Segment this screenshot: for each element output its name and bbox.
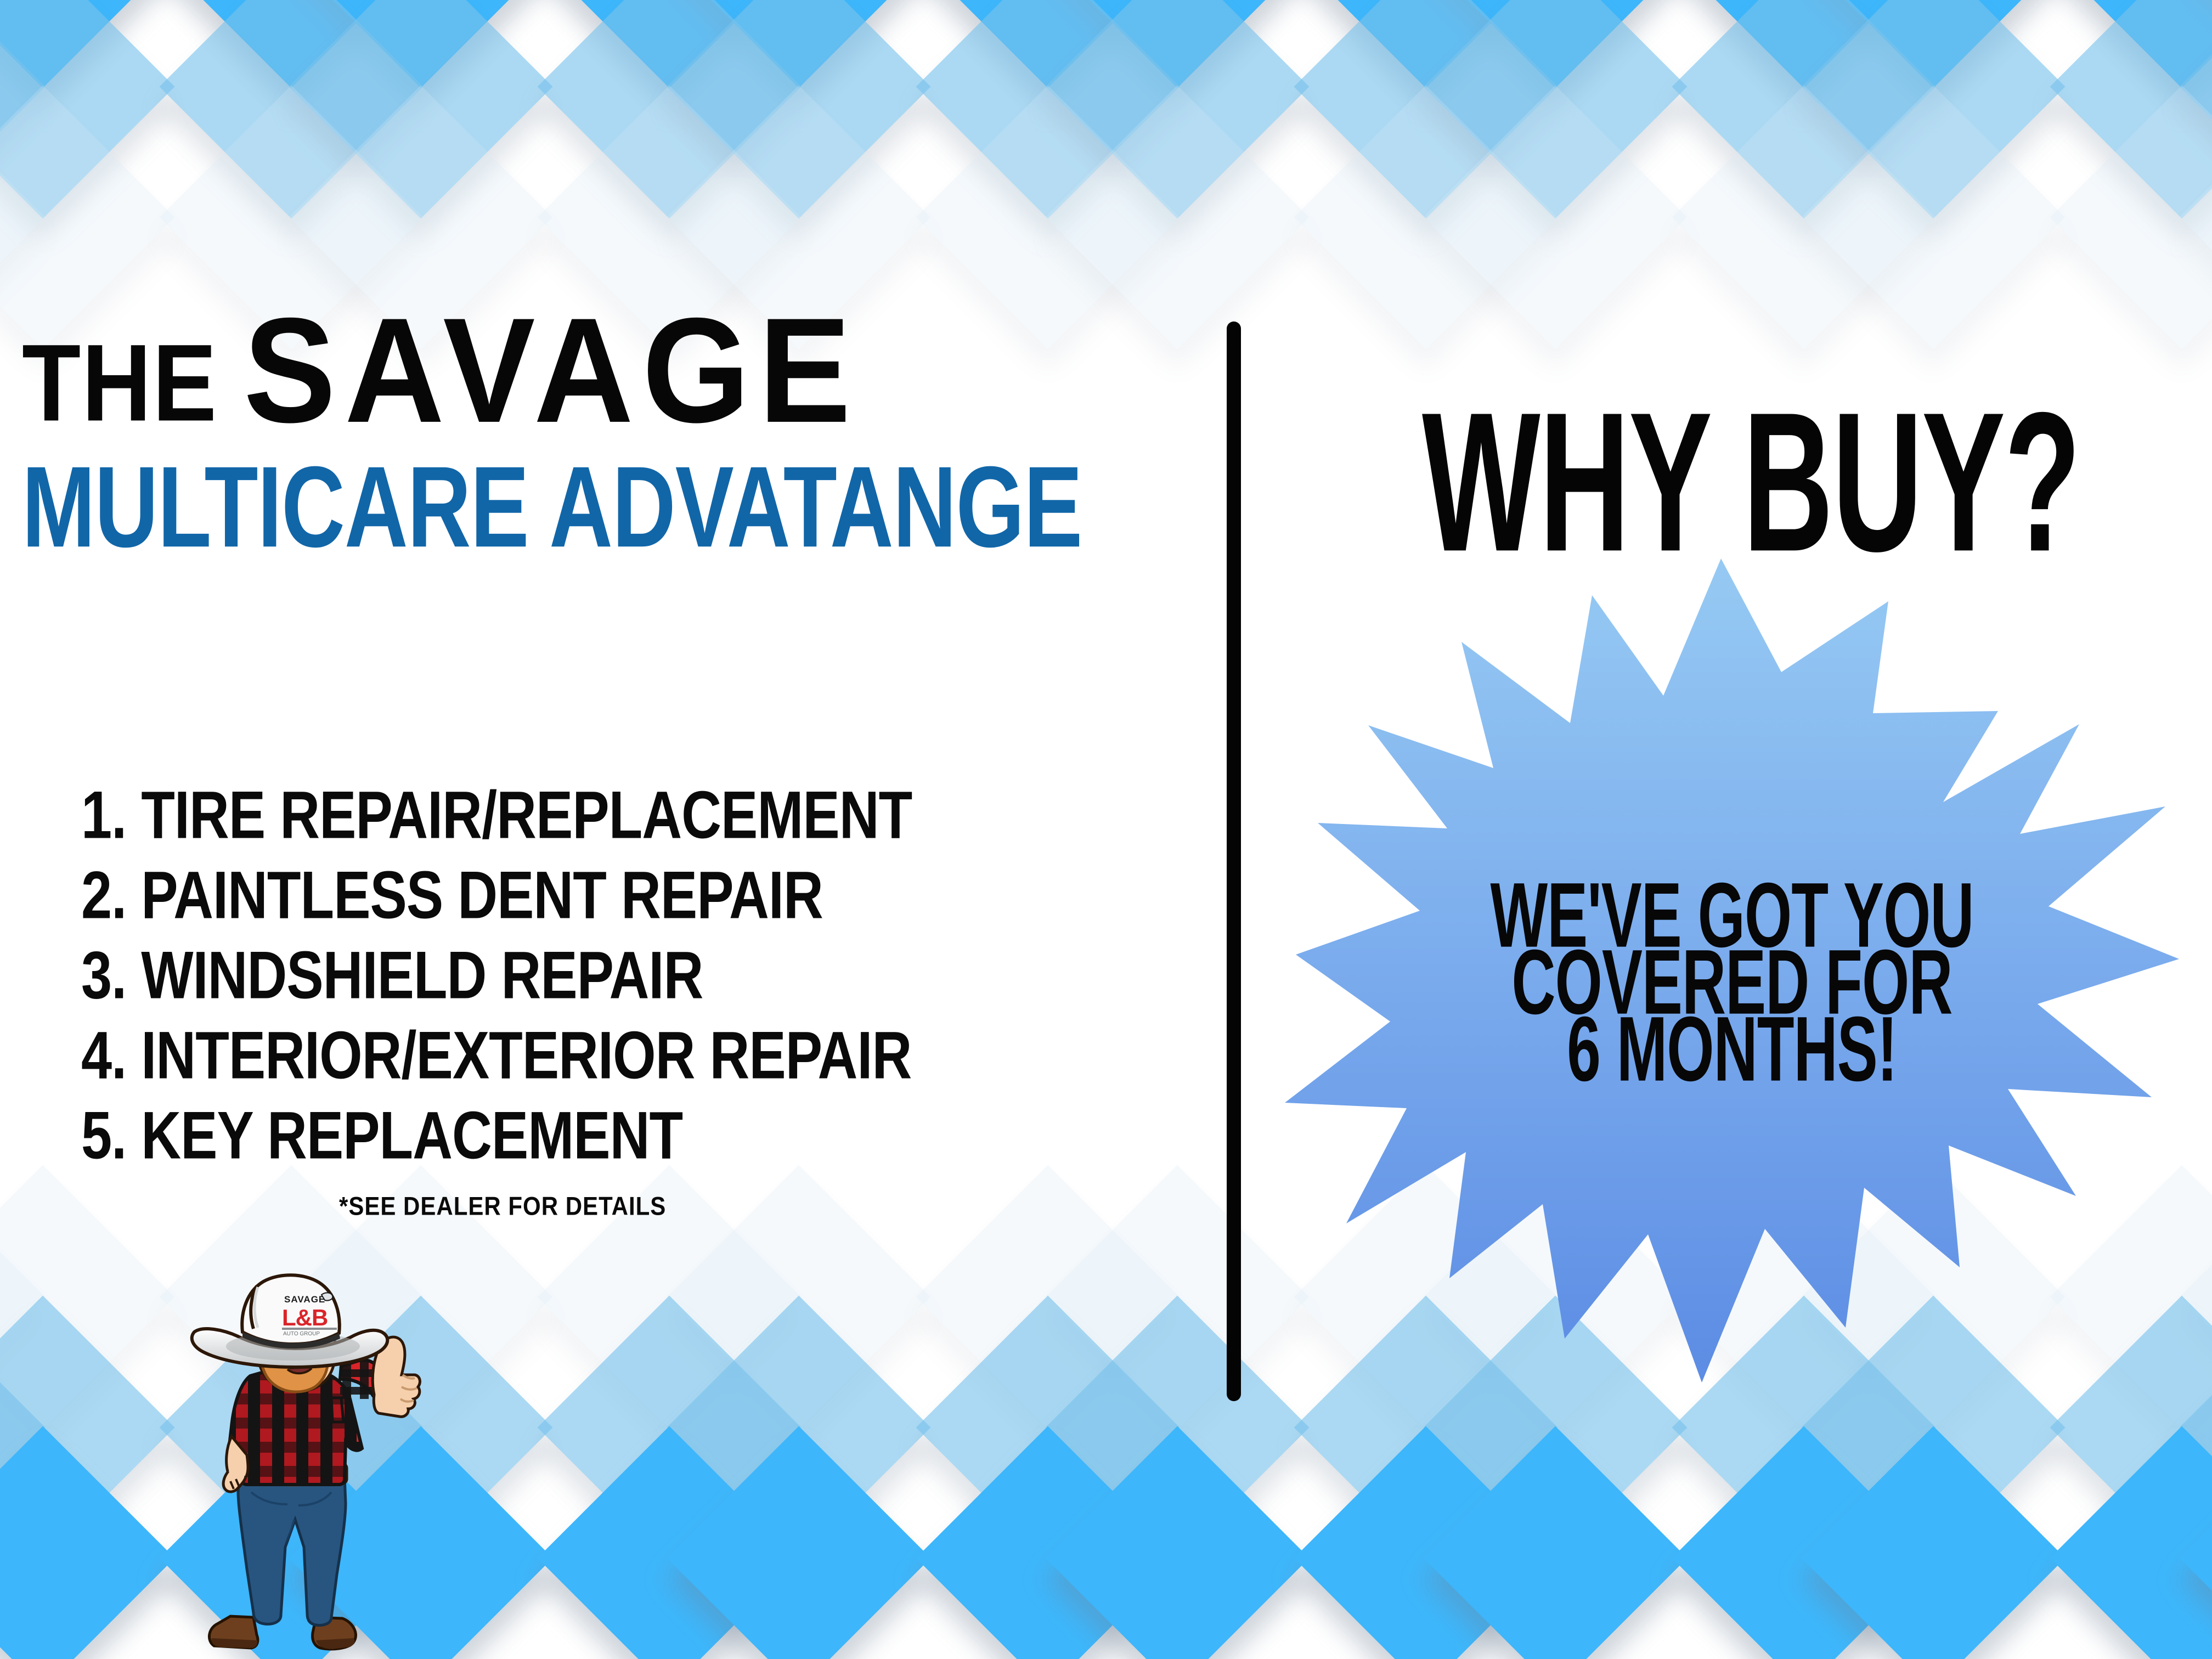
starburst-badge: WE'VE GOT YOU COVERED FOR 6 MONTHS! — [1285, 549, 2179, 1383]
brand-prefix: THE — [22, 336, 218, 431]
right-panel: WHY BUY? WE'VE GOT YOU COVERED FOR 6 MON… — [1241, 0, 2212, 1659]
list-item: 5. KEY REPLACEMENT — [81, 1099, 1124, 1194]
left-panel: THE SAVAGE MULTICARE ADVATANGE 1. TIRE R… — [0, 0, 1227, 1659]
brand-title-row: THE SAVAGE — [22, 321, 1180, 431]
brand-name: SAVAGE — [244, 311, 860, 431]
hat-logo-big-text: L&B — [282, 1305, 328, 1330]
brand-subtitle: MULTICARE ADVATANGE — [22, 441, 1261, 573]
starburst-text-block: WE'VE GOT YOU COVERED FOR 6 MONTHS! — [1285, 870, 2179, 1070]
hat-logo-small-text: SAVAGE — [284, 1294, 325, 1305]
hat-logo-tagline: AUTO GROUP — [283, 1331, 320, 1337]
starburst-line: 6 MONTHS! — [1312, 1003, 2152, 1098]
vertical-divider — [1227, 321, 1241, 1401]
brand-lockup: THE SAVAGE MULTICARE ADVATANGE — [22, 321, 1180, 535]
benefits-list: 1. TIRE REPAIR/REPLACEMENT 2. PAINTLESS … — [81, 779, 1156, 1180]
disclaimer-text: *SEE DEALER FOR DETAILS — [339, 1192, 666, 1221]
savage-lb-cowboy-mascot-icon: SAVAGE L&B AUTO GROUP — [185, 1262, 421, 1659]
